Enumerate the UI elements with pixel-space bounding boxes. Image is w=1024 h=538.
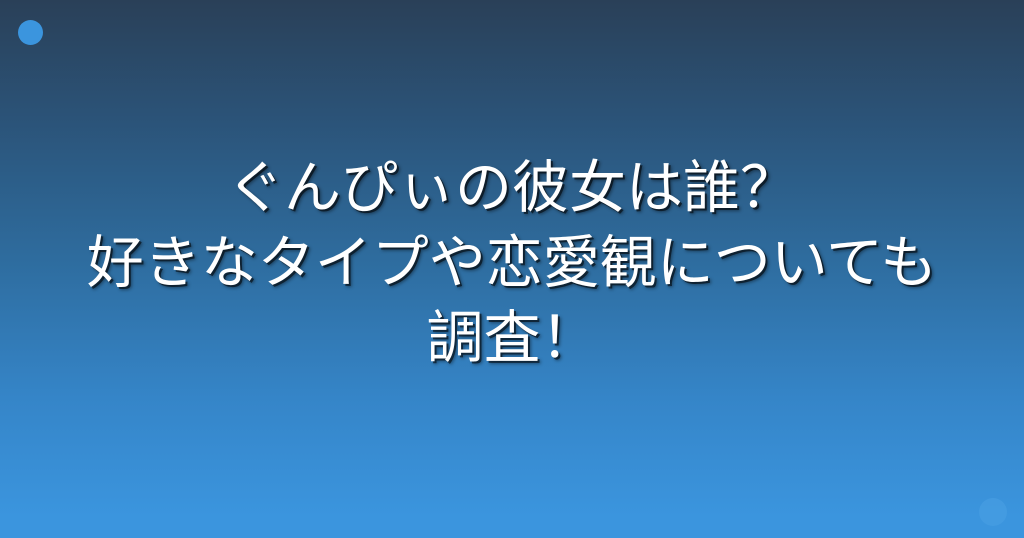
title-line-1: ぐんぴぃの彼女は誰？ xyxy=(227,151,797,226)
title-line-3: 調査！ xyxy=(427,301,598,376)
title-slide: ぐんぴぃの彼女は誰？ 好きなタイプや恋愛観についても 調査！ xyxy=(0,0,1024,538)
decorative-dot-bottom-right xyxy=(979,498,1007,526)
slide-title-block: ぐんぴぃの彼女は誰？ 好きなタイプや恋愛観についても 調査！ xyxy=(0,0,1024,538)
title-line-2: 好きなタイプや恋愛観についても xyxy=(87,226,937,301)
